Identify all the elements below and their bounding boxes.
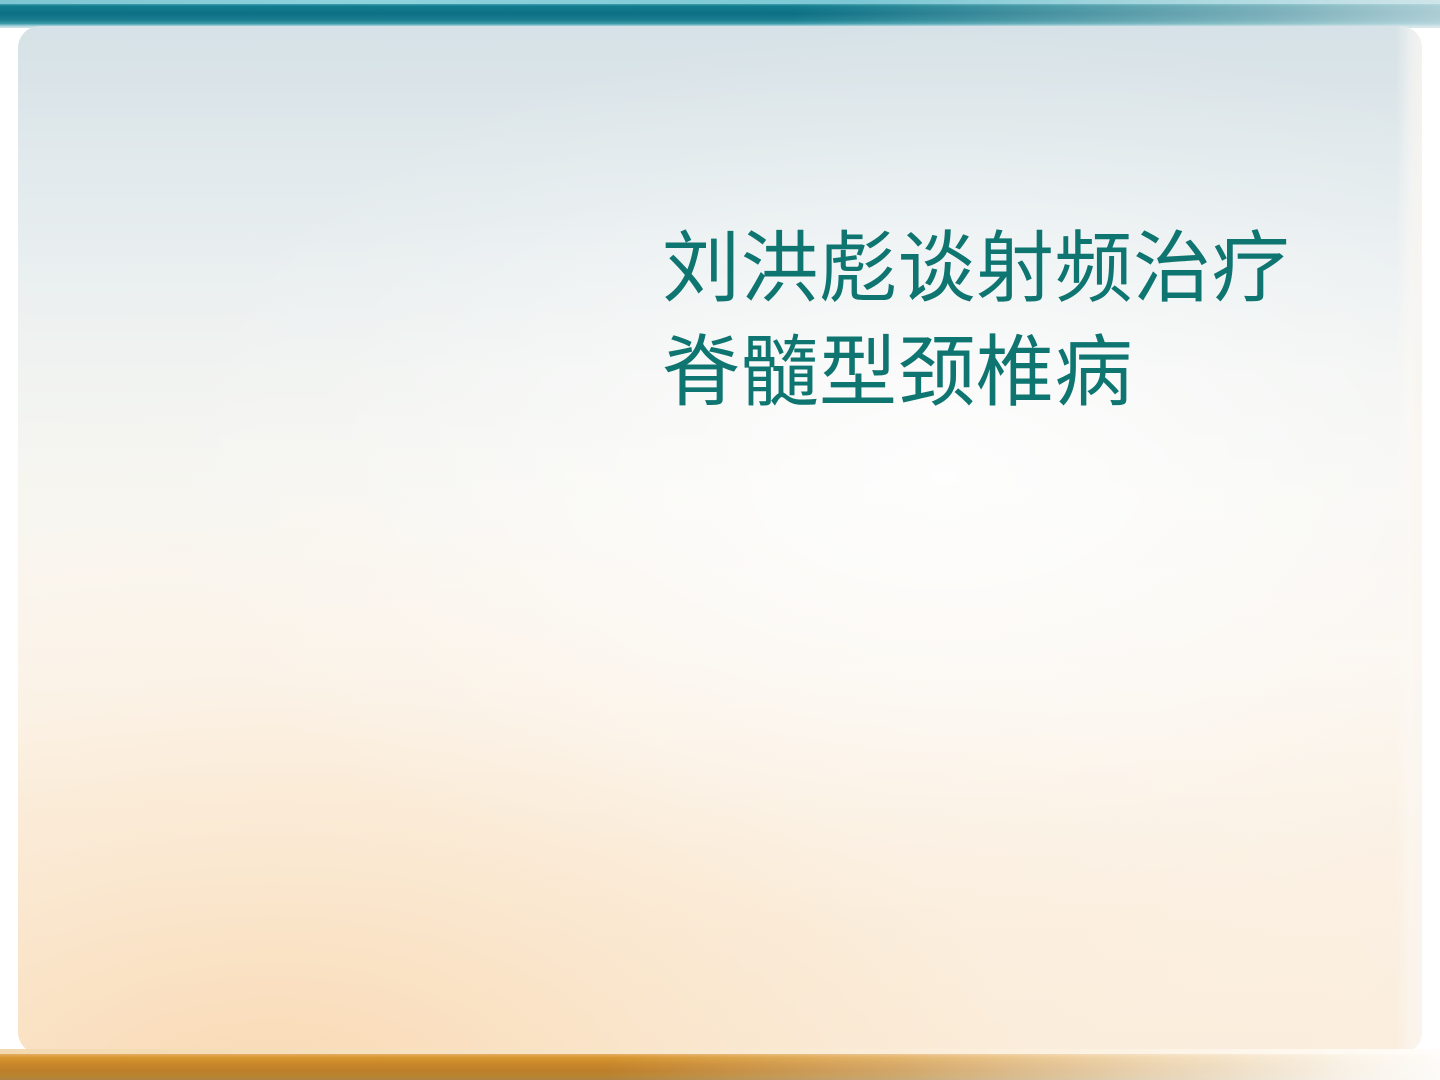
presentation-slide: 刘洪彪谈射频治疗脊髓型颈椎病 — [0, 0, 1440, 1080]
panel-right-edge-fade — [1396, 26, 1422, 1054]
slide-title: 刘洪彪谈射频治疗脊髓型颈椎病 — [662, 218, 1302, 425]
slide-content-panel — [18, 26, 1422, 1054]
slide-top-border-highlight — [0, 0, 1440, 4]
slide-top-border-band — [0, 0, 1440, 28]
slide-bottom-border-band — [0, 1054, 1440, 1080]
title-placeholder[interactable]: 刘洪彪谈射频治疗脊髓型颈椎病 — [662, 218, 1302, 425]
panel-highlight-glow — [18, 26, 1422, 1054]
